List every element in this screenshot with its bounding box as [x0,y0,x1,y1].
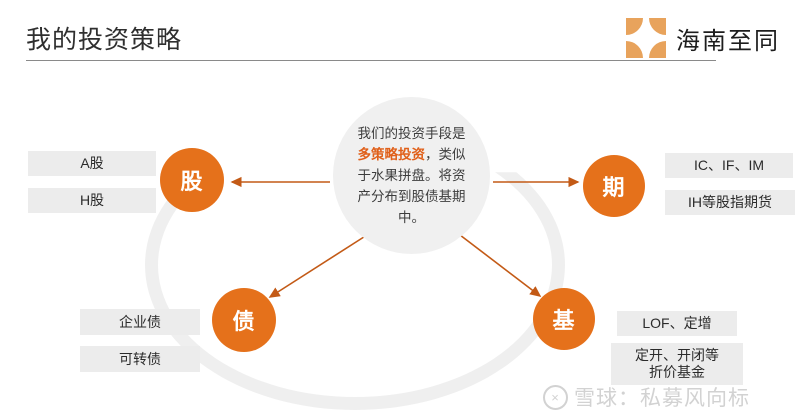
chip-bonds-corporate: 企业债 [80,309,200,335]
title-divider [26,60,716,61]
page-title: 我的投资策略 [26,20,182,56]
slide-canvas: 我的投资策略 海南至同 我们的投资手段是多策略投资，类似于水果拼盘。将资产分布到… [0,0,800,416]
xueqiu-logo-icon: × [543,385,568,410]
node-bonds[interactable]: 债 [212,288,276,352]
hub-text-highlight: 多策略投资 [358,147,426,162]
chip-funds-lof: LOF、定增 [617,311,737,336]
chip-futures-ih: IH等股指期货 [665,190,795,215]
node-funds[interactable]: 基 [533,288,595,350]
chip-funds-discount-line1: 定开、开闭等 [635,347,719,364]
watermark: × 雪球：私募风向标 [543,382,750,412]
node-stocks[interactable]: 股 [160,148,224,212]
brand-name: 海南至同 [676,21,780,56]
chip-funds-discount-line2: 折价基金 [635,364,719,381]
watermark-text: 雪球：私募风向标 [574,382,750,412]
node-futures[interactable]: 期 [583,155,645,217]
center-hub: 我们的投资手段是多策略投资，类似于水果拼盘。将资产分布到股债基期中。 [333,97,490,254]
four-square-logo-icon [626,18,666,58]
chip-stocks-h: H股 [28,188,156,213]
hub-text: 我们的投资手段是多策略投资，类似于水果拼盘。将资产分布到股债基期中。 [353,123,471,228]
chip-stocks-a: A股 [28,151,156,176]
hub-text-before: 我们的投资手段是 [358,126,466,141]
brand-lockup: 海南至同 [626,18,780,58]
chip-funds-discount: 定开、开闭等 折价基金 [611,343,743,385]
chip-bonds-convertible: 可转债 [80,346,200,372]
chip-futures-ic: IC、IF、IM [665,153,793,178]
